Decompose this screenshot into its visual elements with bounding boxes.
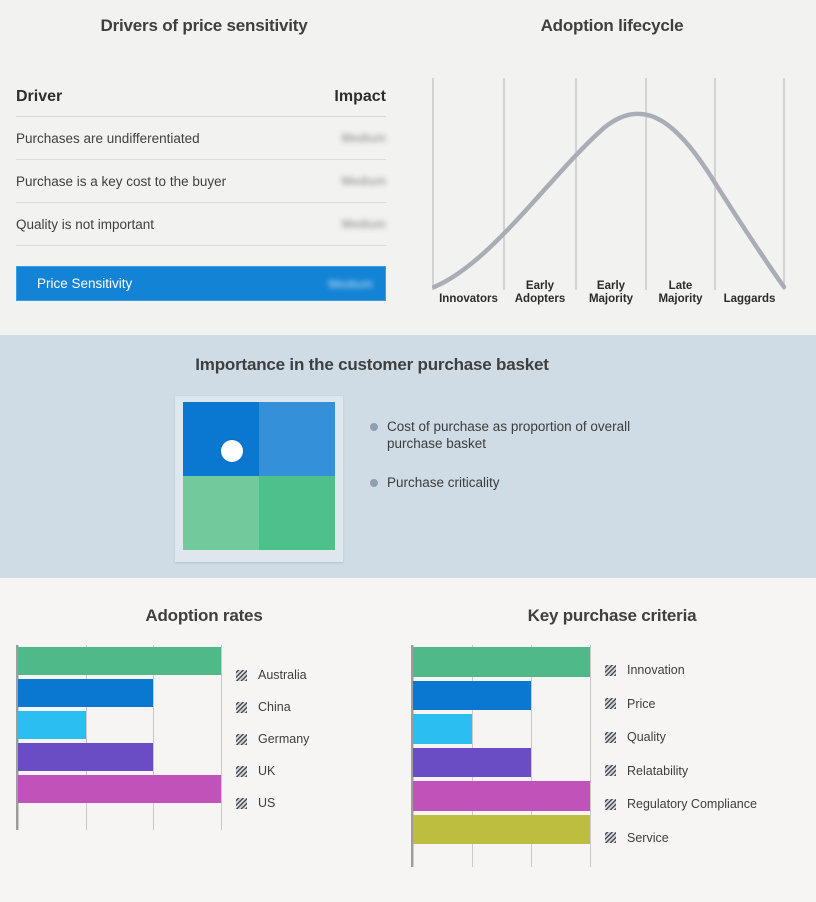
driver-name: Purchase is a key cost to the buyer (16, 174, 290, 189)
column-header-impact: Impact (290, 88, 386, 106)
hatch-swatch-icon (605, 799, 616, 810)
price-sensitivity-summary-row[interactable]: Price Sensitivity Medium (16, 266, 386, 301)
legend-label: Purchase criticality (387, 474, 500, 491)
legend-label: UK (258, 764, 275, 778)
hatch-swatch-icon (236, 766, 247, 777)
key-purchase-criteria-chart: InnovationPriceQualityRelatabilityRegula… (411, 645, 605, 867)
bar-regulatory-compliance[interactable] (413, 781, 590, 811)
importance-title: Importance in the customer purchase bask… (0, 355, 744, 375)
bar-service[interactable] (413, 815, 590, 845)
legend-bullet-icon (370, 423, 378, 431)
lifecycle-title: Adoption lifecycle (408, 16, 816, 36)
quadrant-top-right[interactable] (259, 402, 335, 476)
bar-uk[interactable] (18, 743, 153, 771)
legend-item[interactable]: Regulatory Compliance (605, 797, 757, 811)
quadrant-top-left[interactable] (183, 402, 259, 476)
drivers-title: Drivers of price sensitivity (0, 16, 408, 36)
legend-item[interactable]: Relatability (605, 764, 688, 778)
stage-label-early-adopters: Early Adopters (504, 280, 576, 306)
bar-slot (413, 645, 591, 679)
column-header-driver: Driver (16, 88, 290, 106)
quadrant-chart-frame (175, 396, 343, 562)
legend-label: Cost of purchase as proportion of overal… (387, 418, 635, 452)
summary-label: Price Sensitivity (37, 276, 289, 291)
quadrant-bottom-left[interactable] (183, 476, 259, 550)
legend-label: Relatability (627, 764, 688, 778)
legend-label: Australia (258, 668, 307, 682)
legend-item[interactable]: Cost of purchase as proportion of overal… (370, 418, 660, 452)
legend-item[interactable]: Innovation (605, 663, 685, 677)
bar-relatability[interactable] (413, 748, 531, 778)
lifecycle-panel: Adoption lifecycle Innovators Early Adop… (408, 0, 816, 335)
driver-name: Quality is not important (16, 217, 290, 232)
quadrant-data-point-marker[interactable] (221, 440, 243, 462)
bar-slot (413, 712, 591, 746)
legend-item[interactable]: China (236, 700, 291, 714)
bar-slot (18, 709, 222, 741)
hatch-swatch-icon (236, 670, 247, 681)
legend-item[interactable]: UK (236, 764, 275, 778)
impact-value-redacted: Medium (342, 217, 386, 231)
legend-label: China (258, 700, 291, 714)
legend-item[interactable]: Purchase criticality (370, 474, 660, 491)
bar-slot (18, 741, 222, 773)
legend-label: Quality (627, 730, 666, 744)
bar-slot (18, 677, 222, 709)
lifecycle-stage-labels: Innovators Early Adopters Early Majority… (432, 278, 804, 318)
legend-label: Regulatory Compliance (627, 797, 757, 811)
summary-impact: Medium (289, 275, 385, 293)
legend-label: Service (627, 831, 669, 845)
quadrant-matrix (183, 402, 335, 550)
importance-legend: Cost of purchase as proportion of overal… (370, 418, 660, 513)
hatch-swatch-icon (605, 665, 616, 676)
bar-slot (413, 779, 591, 813)
quadrant-bottom-right[interactable] (259, 476, 335, 550)
drivers-table: Driver Impact Purchases are undifferenti… (16, 88, 386, 301)
stage-label-innovators: Innovators (433, 293, 504, 306)
stage-label-early-majority: Early Majority (576, 280, 646, 306)
table-row[interactable]: Purchase is a key cost to the buyer Medi… (16, 160, 386, 203)
adoption-bell-curve (434, 114, 784, 287)
legend-item[interactable]: Germany (236, 732, 309, 746)
legend-item[interactable]: US (236, 796, 275, 810)
hatch-swatch-icon (236, 702, 247, 713)
impact-value-redacted: Medium (342, 131, 386, 145)
bar-us[interactable] (18, 775, 221, 803)
table-row[interactable]: Purchases are undifferentiated Medium (16, 117, 386, 160)
legend-label: Germany (258, 732, 309, 746)
adoption-bars (18, 645, 222, 830)
stage-label-late-majority: Late Majority (646, 280, 715, 306)
key-purchase-criteria-title: Key purchase criteria (408, 606, 816, 626)
bar-slot (18, 645, 222, 677)
lifecycle-gridlines (433, 78, 784, 290)
driver-name: Purchases are undifferentiated (16, 131, 290, 146)
bar-slot (413, 679, 591, 713)
bar-quality[interactable] (413, 714, 472, 744)
hatch-swatch-icon (605, 698, 616, 709)
drivers-table-header: Driver Impact (16, 88, 386, 117)
bar-australia[interactable] (18, 647, 221, 675)
hatch-swatch-icon (236, 734, 247, 745)
legend-label: Price (627, 697, 655, 711)
legend-bullet-icon (370, 479, 378, 487)
bar-price[interactable] (413, 681, 531, 711)
adoption-plot-area (16, 645, 222, 830)
lifecycle-chart (432, 78, 804, 290)
legend-item[interactable]: Quality (605, 730, 666, 744)
bar-innovation[interactable] (413, 647, 590, 677)
legend-item[interactable]: Service (605, 831, 669, 845)
criteria-bars (413, 645, 591, 867)
bar-germany[interactable] (18, 711, 86, 739)
driver-impact: Medium (290, 215, 386, 233)
table-row[interactable]: Quality is not important Medium (16, 203, 386, 246)
hatch-swatch-icon (605, 832, 616, 843)
stage-label-laggards: Laggards (715, 293, 784, 306)
lifecycle-curve-svg (432, 78, 804, 290)
legend-item[interactable]: Price (605, 697, 655, 711)
criteria-plot-area (411, 645, 591, 867)
adoption-rates-title: Adoption rates (0, 606, 408, 626)
bar-china[interactable] (18, 679, 153, 707)
hatch-swatch-icon (605, 732, 616, 743)
bar-slot (413, 746, 591, 780)
bar-slot (18, 773, 222, 805)
legend-label: US (258, 796, 275, 810)
legend-item[interactable]: Australia (236, 668, 307, 682)
driver-impact: Medium (290, 129, 386, 147)
adoption-rates-chart: AustraliaChinaGermanyUKUS (16, 645, 236, 830)
bar-slot (413, 813, 591, 847)
impact-value-redacted: Medium (329, 277, 373, 291)
hatch-swatch-icon (605, 765, 616, 776)
hatch-swatch-icon (236, 798, 247, 809)
impact-value-redacted: Medium (342, 174, 386, 188)
driver-impact: Medium (290, 172, 386, 190)
legend-label: Innovation (627, 663, 685, 677)
